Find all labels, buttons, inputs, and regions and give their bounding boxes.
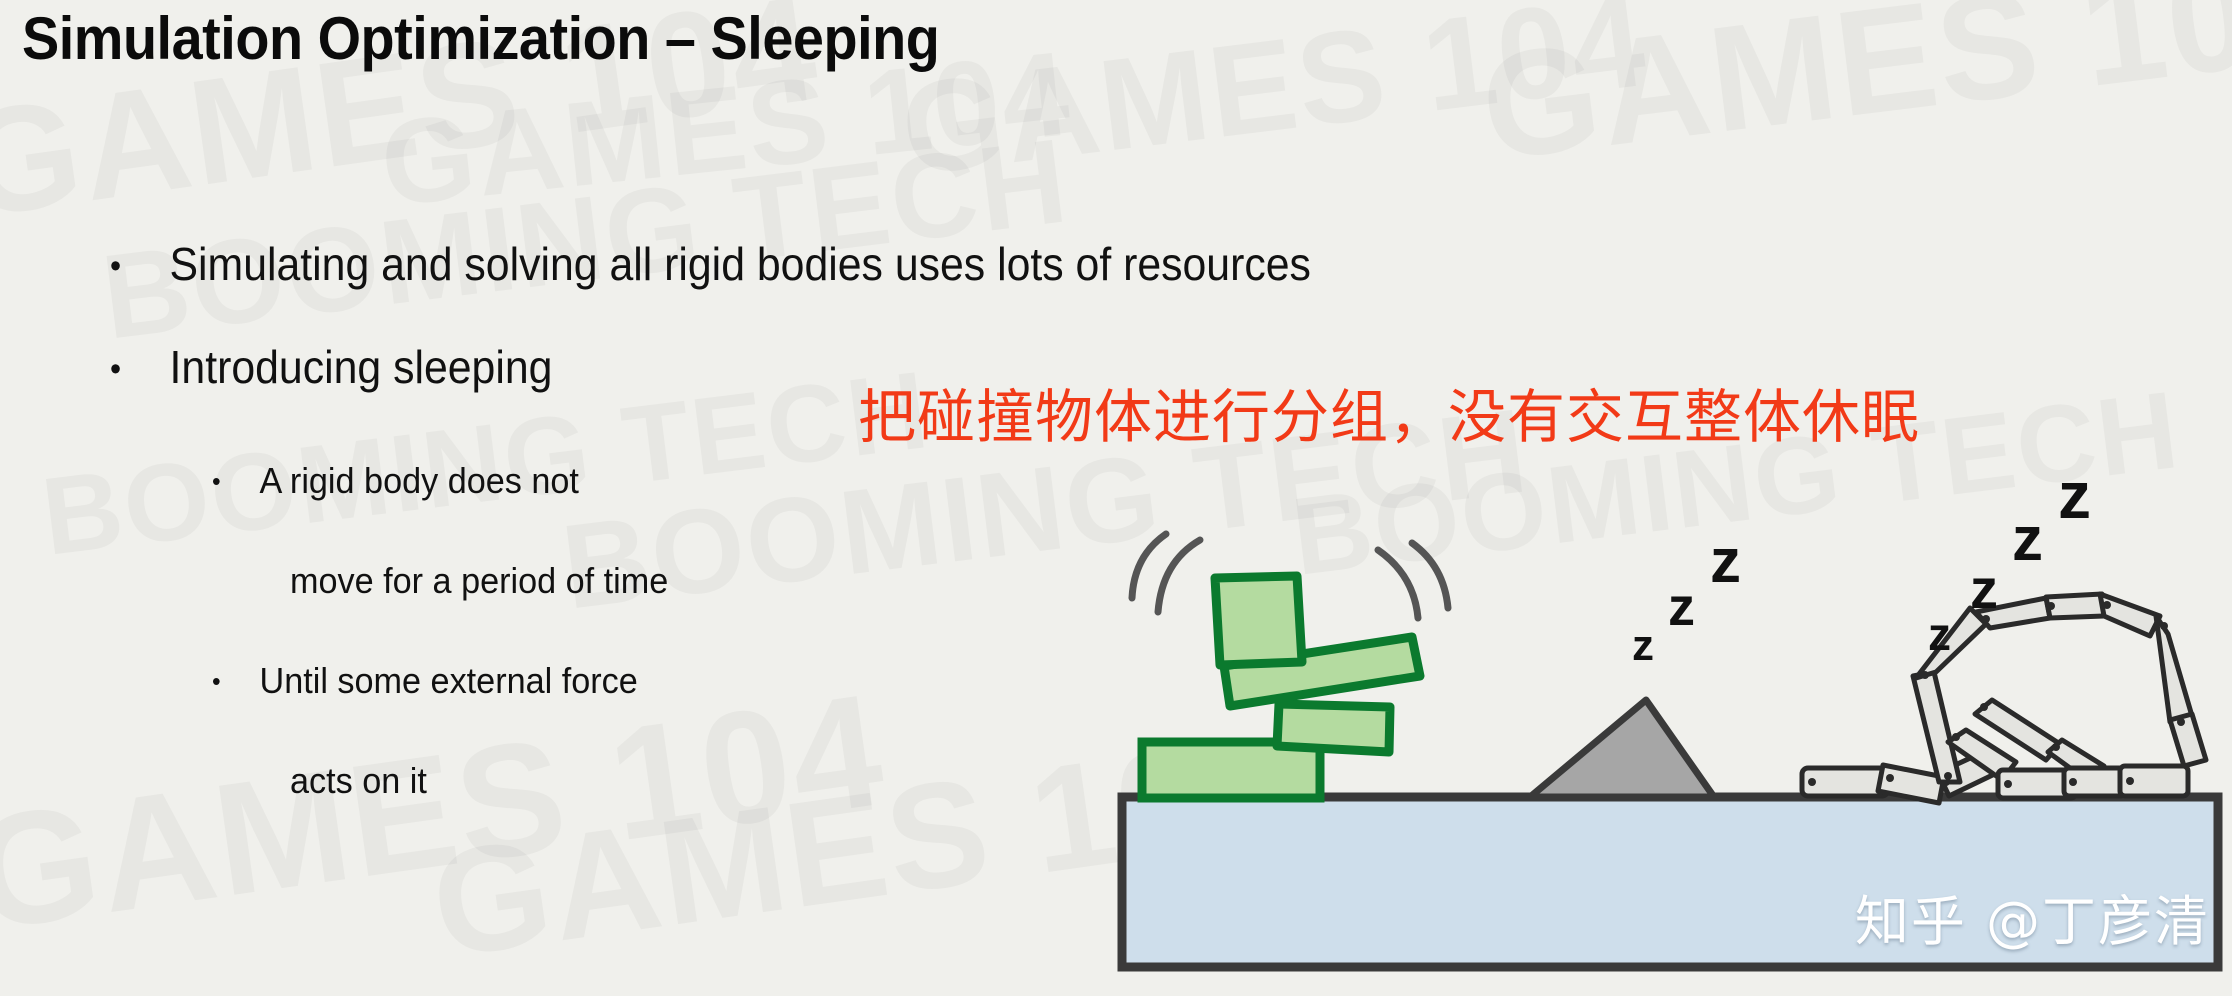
ragdoll-segment: [1976, 598, 2050, 628]
ragdoll-joint: [2126, 777, 2134, 785]
bullet-item-3-line2: move for a period of time: [290, 560, 668, 602]
ragdoll-segment: [1948, 730, 2016, 780]
sleep-z-icon: z: [1970, 557, 1998, 620]
bullet-text: Introducing sleeping: [170, 341, 553, 393]
bullet-item-1: •Simulating and solving all rigid bodies…: [110, 237, 1311, 291]
bullet-item-2: •Introducing sleeping: [110, 340, 552, 394]
sleep-z-icon: z: [1632, 621, 1654, 670]
motion-arc-right-inner: [1412, 543, 1448, 608]
background-watermark-text: GAMES 104: [0, 657, 894, 967]
ragdoll-segment: [1878, 765, 1944, 803]
ragdoll-joint: [2103, 601, 2111, 609]
ragdoll-segment: [2064, 768, 2126, 796]
green-box-upright: [1215, 576, 1302, 665]
ragdoll-segment: [2120, 766, 2188, 796]
sleep-z-icon: z: [1668, 577, 1695, 637]
red-annotation-text: 把碰撞物体进行分组，没有交互整体休眠: [858, 370, 1920, 454]
awake-box-stack: [1142, 576, 1420, 798]
ragdoll-segment: [1998, 770, 2076, 798]
ragdoll-segment: [2170, 714, 2206, 766]
bullet-text: acts on it: [290, 760, 427, 801]
ramp-triangle: [1530, 700, 1714, 797]
ragdoll-segment: [2046, 594, 2104, 618]
ragdoll-joint: [2160, 622, 2168, 630]
page-title: Simulation Optimization – Sleeping: [22, 4, 939, 73]
ragdoll-joint: [1886, 774, 1894, 782]
sleep-z-icon: z: [1710, 527, 1741, 596]
ragdoll-segment: [2100, 594, 2160, 636]
bullet-item-4-line2: acts on it: [290, 760, 427, 802]
ragdoll-joint: [2052, 743, 2060, 751]
ragdoll-joint: [1952, 733, 1960, 741]
ragdoll-joint: [1942, 778, 1950, 786]
motion-arc-left-group: [1132, 534, 1200, 612]
sleep-z-icon: z: [1928, 608, 1951, 660]
sleep-z-icon: z: [2058, 458, 2091, 532]
green-box-plank: [1224, 637, 1420, 706]
bullet-text: move for a period of time: [290, 560, 668, 601]
bullet-marker: •: [110, 247, 170, 286]
ragdoll-joint: [1980, 703, 1988, 711]
ragdoll-joint: [1921, 671, 1929, 679]
bullet-text: A rigid body does not: [260, 460, 579, 501]
bullet-text: Simulating and solving all rigid bodies …: [170, 238, 1311, 290]
bullet-item-3: •A rigid body does not: [212, 460, 579, 502]
ragdoll-segment: [1938, 748, 2003, 796]
slide-canvas: GAMES 104 GAMES 104 GAMES 104 GAMES 104 …: [0, 0, 2232, 996]
sleep-z-icon: z: [2012, 505, 2043, 574]
background-watermark-text: GAMES 104: [1473, 0, 2232, 195]
ragdoll-joint: [2069, 778, 2077, 786]
ragdoll-chain: [1802, 594, 2206, 803]
ragdoll-segment: [2048, 740, 2104, 784]
ragdoll-segment: [1916, 608, 1986, 678]
ragdoll-joint: [1808, 778, 1816, 786]
ragdoll-joint: [1982, 615, 1990, 623]
bullet-marker: •: [110, 350, 170, 389]
ragdoll-joint: [2047, 602, 2055, 610]
motion-arc-left-inner: [1132, 534, 1166, 598]
bullet-text: Until some external force: [260, 660, 638, 701]
ragdoll-joint: [2004, 780, 2012, 788]
ragdoll-segment: [2156, 616, 2192, 722]
ragdoll-segment: [1802, 768, 1888, 796]
motion-arc-right-outer: [1378, 550, 1418, 618]
bullet-marker: •: [212, 466, 260, 497]
green-box-bottom: [1142, 742, 1320, 798]
ragdoll-segment: [1913, 672, 1960, 782]
motion-arc-right-group: [1378, 543, 1448, 618]
green-box-small-tilted: [1277, 704, 1390, 752]
zhihu-watermark: 知乎 @丁彦清: [1855, 877, 2210, 956]
sleep-z-group-right: z z z z: [1928, 458, 2091, 660]
bullet-marker: •: [212, 666, 260, 697]
ragdoll-joint: [1944, 772, 1952, 780]
bullet-item-4: •Until some external force: [212, 660, 638, 702]
sleep-z-group-left: z z z: [1632, 527, 1741, 670]
background-watermark-text: GAMES 104: [422, 701, 1298, 992]
ragdoll-joint: [2177, 718, 2185, 726]
ragdoll-segment: [1975, 700, 2060, 760]
motion-arc-left-outer: [1158, 540, 1200, 612]
background-watermark-text: GAMES 104: [894, 0, 1654, 205]
